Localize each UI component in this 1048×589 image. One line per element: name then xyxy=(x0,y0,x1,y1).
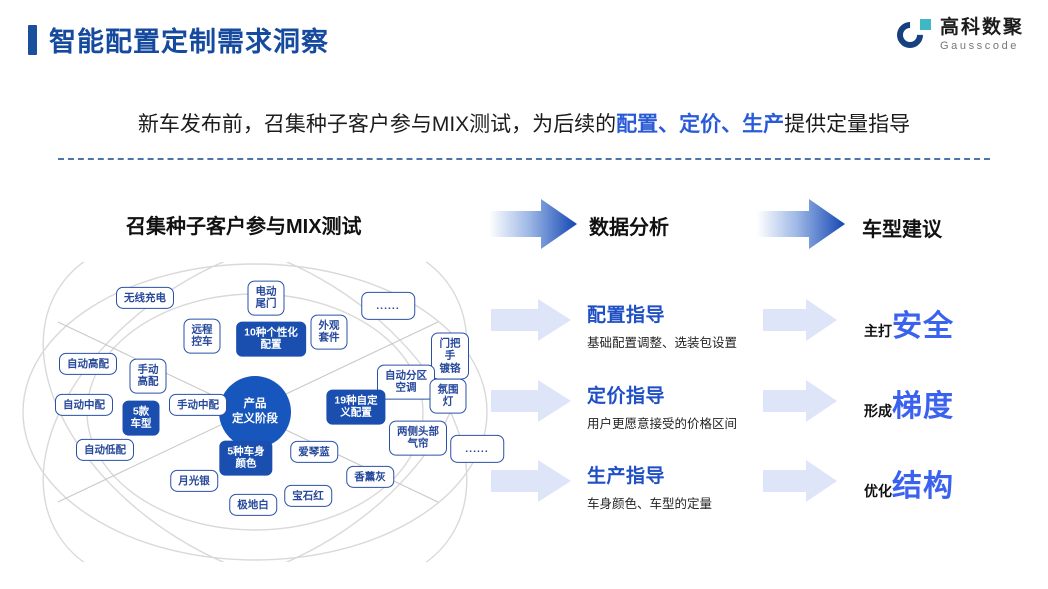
result-keyword-2: 结构 xyxy=(892,461,954,505)
diagram-node-4[interactable]: 10种个性化 配置 xyxy=(236,322,306,357)
diagram-node-13[interactable]: 19种自定 义配置 xyxy=(326,390,385,425)
subtitle-part1: 新车发布前，召集种子客户参与MIX测试，为后续的 xyxy=(138,113,616,136)
column-header-middle: 数据分析 xyxy=(589,211,669,240)
brand-name: 高科数聚 Gausscode xyxy=(940,18,1024,52)
brand-logo: 高科数聚 Gausscode xyxy=(897,18,1024,52)
diagram-node-5[interactable]: 外观 套件 xyxy=(311,315,348,350)
diagram-node-14[interactable]: 5款 车型 xyxy=(123,401,160,436)
arrow-row-2-right-icon xyxy=(763,379,837,423)
diagram-node-1[interactable]: 电动 尾门 xyxy=(248,281,285,316)
title-accent-bar xyxy=(28,25,37,55)
analysis-title-2: 生产指导 xyxy=(587,461,712,488)
page-title-text: 智能配置定制需求洞察 xyxy=(49,20,329,59)
brand-name-en: Gausscode xyxy=(940,41,1024,52)
page-header: 智能配置定制需求洞察 高科数聚 Gausscode xyxy=(0,0,1048,78)
column-header-left: 召集种子客户参与MIX测试 xyxy=(126,210,362,239)
diagram-node-17[interactable]: 自动低配 xyxy=(76,439,134,461)
result-keyword-1: 梯度 xyxy=(892,381,954,425)
diagram-node-18[interactable]: 5种车身 颜色 xyxy=(219,441,272,476)
diagram-node-10[interactable]: 氛围 灯 xyxy=(430,379,467,414)
analysis-desc-2: 车身颜色、车型的定量 xyxy=(587,493,712,512)
subtitle-part2: 提供定量指导 xyxy=(784,113,910,136)
diagram-node-21[interactable]: 月光银 xyxy=(170,470,218,492)
analysis-desc-1: 用户更愿意接受的价格区间 xyxy=(587,413,737,432)
analysis-title-0: 配置指导 xyxy=(587,300,737,327)
result-item-0[interactable]: 主打 安全 xyxy=(864,301,954,345)
diagram-node-8[interactable]: 手动 高配 xyxy=(130,359,167,394)
diagram-core-node[interactable]: 产品 定义阶段 xyxy=(219,376,291,448)
diagram-node-11[interactable]: 自动中配 xyxy=(55,394,113,416)
arrow-left-to-middle-icon xyxy=(489,198,577,250)
arrow-middle-to-right-icon xyxy=(757,198,845,250)
diagram-node-2[interactable]: ...... xyxy=(361,292,415,320)
analysis-item-0[interactable]: 配置指导 基础配置调整、选装包设置 xyxy=(587,300,737,351)
diagram-node-6[interactable]: 门把手 镀铬 xyxy=(431,332,469,379)
result-prefix-2: 优化 xyxy=(864,481,892,501)
mind-map-diagram: 产品 定义阶段 无线充电电动 尾门......远程 控车10种个性化 配置外观 … xyxy=(18,262,488,562)
diagram-node-19[interactable]: 爱琴蓝 xyxy=(290,441,338,463)
analysis-item-2[interactable]: 生产指导 车身颜色、车型的定量 xyxy=(587,461,712,512)
diagram-node-16[interactable]: ...... xyxy=(450,435,504,463)
result-item-1[interactable]: 形成 梯度 xyxy=(864,381,954,425)
diagram-node-3[interactable]: 远程 控车 xyxy=(184,319,221,354)
analysis-desc-0: 基础配置调整、选装包设置 xyxy=(587,332,737,351)
result-keyword-0: 安全 xyxy=(892,301,954,345)
arrow-row-1-left-icon xyxy=(491,298,571,342)
brand-name-cn: 高科数聚 xyxy=(940,18,1024,37)
subtitle: 新车发布前，召集种子客户参与MIX测试，为后续的配置、定价、生产提供定量指导 xyxy=(0,108,1048,138)
diagram-node-0[interactable]: 无线充电 xyxy=(116,287,174,309)
diagram-node-23[interactable]: 极地白 xyxy=(229,494,277,516)
logo-square-accent xyxy=(920,19,931,30)
analysis-item-1[interactable]: 定价指导 用户更愿意接受的价格区间 xyxy=(587,381,737,432)
result-prefix-0: 主打 xyxy=(864,321,892,341)
gausscode-logo-icon xyxy=(897,18,931,52)
result-prefix-1: 形成 xyxy=(864,401,892,421)
page-title: 智能配置定制需求洞察 xyxy=(28,20,329,59)
diagram-node-22[interactable]: 宝石红 xyxy=(284,485,332,507)
arrow-row-1-right-icon xyxy=(763,298,837,342)
column-header-right: 车型建议 xyxy=(862,213,942,242)
diagram-node-7[interactable]: 自动高配 xyxy=(59,353,117,375)
analysis-title-1: 定价指导 xyxy=(587,381,737,408)
diagram-node-15[interactable]: 两侧头部 气帘 xyxy=(389,421,447,456)
diagram-node-9[interactable]: 自动分区 空调 xyxy=(377,365,435,400)
subtitle-highlight: 配置、定价、生产 xyxy=(616,113,784,136)
diagram-node-12[interactable]: 手动中配 xyxy=(169,394,227,416)
arrow-row-3-right-icon xyxy=(763,459,837,503)
arrow-row-3-left-icon xyxy=(491,459,571,503)
result-item-2[interactable]: 优化 结构 xyxy=(864,461,954,505)
arrow-row-2-left-icon xyxy=(491,379,571,423)
section-divider xyxy=(58,158,990,160)
diagram-node-20[interactable]: 香薰灰 xyxy=(346,466,394,488)
